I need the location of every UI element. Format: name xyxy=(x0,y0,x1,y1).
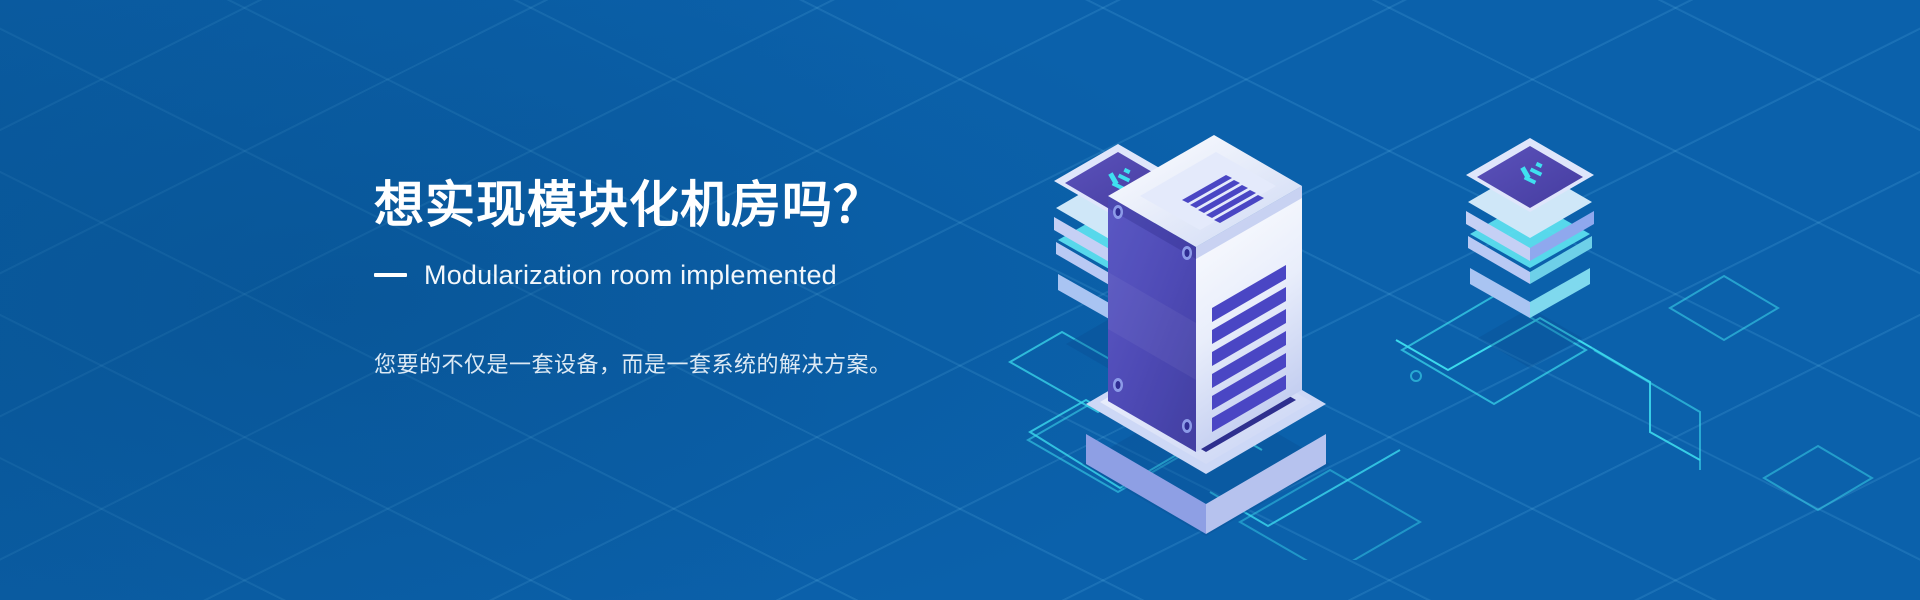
chip-module-right xyxy=(1466,138,1594,318)
hero-copy-block: 想实现模块化机房吗？ Modularization room implement… xyxy=(374,176,1134,381)
isometric-server-room-illustration xyxy=(1000,40,1900,560)
page-title: 想实现模块化机房吗？ xyxy=(374,176,1134,235)
body-description: 您要的不仅是一套设备，而是一套系统的解决方案。 xyxy=(374,348,1134,381)
hero-banner: 想实现模块化机房吗？ Modularization room implement… xyxy=(0,0,1920,600)
dash-rule-icon xyxy=(374,273,407,277)
subtitle: Modularization room implemented xyxy=(424,259,837,291)
subhead-row: Modularization room implemented xyxy=(374,259,1134,291)
